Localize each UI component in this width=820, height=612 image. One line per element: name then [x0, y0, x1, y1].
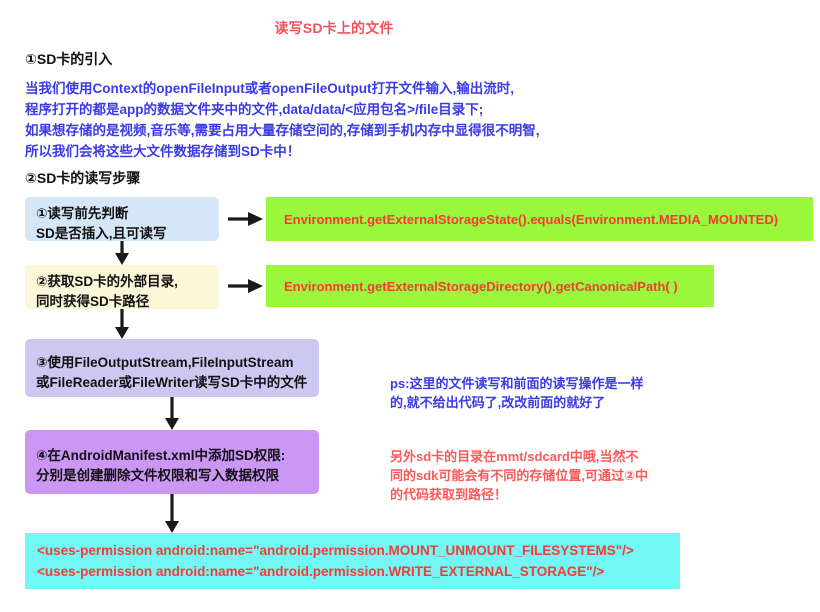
arrow-step1-to-step2: [115, 241, 129, 265]
arrow-step4-to-permissions: [165, 494, 179, 533]
arrow-step1-to-code1: [228, 212, 263, 226]
arrow-step2-to-step3: [115, 309, 129, 339]
flow-arrows: [0, 0, 820, 612]
arrow-step2-to-code2: [228, 279, 263, 293]
arrow-step3-to-step4: [165, 397, 179, 430]
